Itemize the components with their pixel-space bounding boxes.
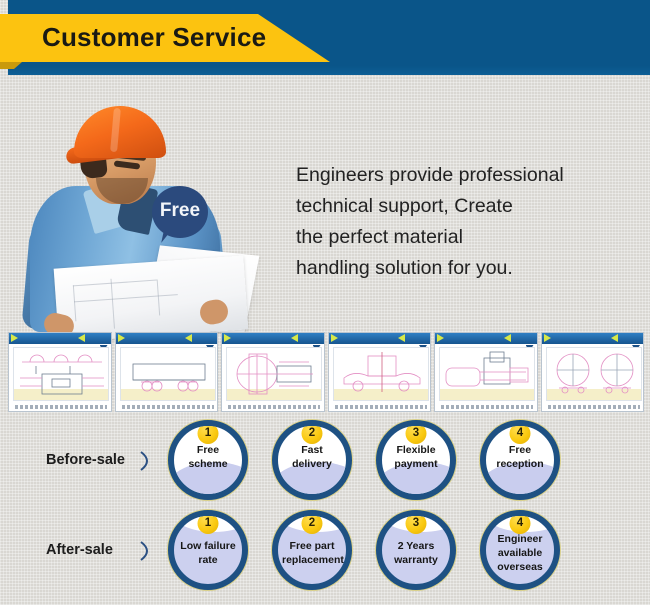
- label-line: overseas: [490, 560, 550, 574]
- step-number-badge: 4: [510, 423, 531, 444]
- thumbnail-item[interactable]: [541, 332, 645, 412]
- after-sale-item-1-label: Low failure rate: [178, 539, 238, 567]
- chevron-right-icon: [398, 334, 405, 342]
- thumbnail-title-bar: [329, 333, 432, 344]
- thumbnail-title-bar: [9, 333, 112, 344]
- label-line: warranty: [386, 553, 446, 567]
- thumbnail-caption: [228, 405, 320, 409]
- step-number-badge: 4: [510, 513, 531, 534]
- page-title: Customer Service: [42, 22, 266, 53]
- engineer-photo: [4, 82, 282, 326]
- before-sale-row: Before-sale 1 Free scheme 2 Fast deliver…: [0, 416, 650, 506]
- thumbnail-drawing: [546, 347, 642, 401]
- hero-line-1: Engineers provide professional: [296, 160, 636, 191]
- chevron-right-icon: [611, 334, 618, 342]
- before-sale-item-3[interactable]: 3 Flexible payment: [376, 420, 456, 500]
- chevron-left-icon: [544, 334, 551, 342]
- blueprint-line: [157, 279, 161, 315]
- thumbnail-caption: [15, 405, 107, 409]
- before-sale-item-3-label: Flexible payment: [386, 443, 446, 471]
- thumbnail-item[interactable]: [221, 332, 325, 412]
- before-sale-label: Before-sale: [46, 452, 125, 468]
- step-number-badge: 1: [198, 423, 219, 444]
- thumbnail-title-bar: [222, 333, 325, 344]
- thumbnail-title-bar: [542, 333, 645, 344]
- cad-linework: [334, 348, 429, 401]
- thumbnail-drawing: [333, 347, 429, 401]
- label-line: Free: [490, 443, 550, 457]
- drawing-thumbnail-strip: [8, 332, 644, 412]
- blueprint-line: [73, 280, 157, 287]
- after-sale-item-3[interactable]: 3 2 Years warranty: [376, 510, 456, 590]
- before-sale-item-2-label: Fast delivery: [282, 443, 342, 471]
- chevron-right-icon: [138, 540, 156, 562]
- chevron-right-icon: [78, 334, 85, 342]
- chevron-right-icon: [138, 450, 156, 472]
- cad-linework: [14, 348, 109, 401]
- blueprint-fold: [110, 279, 114, 329]
- thumbnail-caption: [548, 405, 640, 409]
- thumbnail-caption: [122, 405, 214, 409]
- thumbnail-item[interactable]: [434, 332, 538, 412]
- step-number-badge: 2: [302, 513, 323, 534]
- step-number-badge: 2: [302, 423, 323, 444]
- after-sale-item-2[interactable]: 2 Free part replacement: [272, 510, 352, 590]
- before-sale-item-2[interactable]: 2 Fast delivery: [272, 420, 352, 500]
- chevron-left-icon: [11, 334, 18, 342]
- after-sale-item-4[interactable]: 4 Engineer available overseas: [480, 510, 560, 590]
- step-number-badge: 3: [406, 513, 427, 534]
- cad-linework: [440, 348, 535, 401]
- label-line: 2 Years: [386, 539, 446, 553]
- cad-linework: [121, 348, 216, 401]
- label-line: payment: [386, 457, 446, 471]
- chevron-right-icon: [291, 334, 298, 342]
- blueprint-line: [73, 285, 77, 321]
- after-sale-item-2-label: Free part replacement: [282, 539, 342, 567]
- chevron-left-icon: [331, 334, 338, 342]
- after-sale-item-3-label: 2 Years warranty: [386, 539, 446, 567]
- hero-line-2: technical support, Create: [296, 191, 636, 222]
- before-sale-item-4[interactable]: 4 Free reception: [480, 420, 560, 500]
- label-line: replacement: [282, 553, 342, 567]
- chevron-right-icon: [185, 334, 192, 342]
- before-sale-item-4-label: Free reception: [490, 443, 550, 471]
- after-sale-label: After-sale: [46, 542, 113, 558]
- chevron-left-icon: [118, 334, 125, 342]
- label-line: Flexible: [386, 443, 446, 457]
- after-sale-item-1[interactable]: 1 Low failure rate: [168, 510, 248, 590]
- label-line: Free part: [282, 539, 342, 553]
- chevron-left-icon: [224, 334, 231, 342]
- thumbnail-item[interactable]: [328, 332, 432, 412]
- step-number-badge: 1: [198, 513, 219, 534]
- page-root: Customer Service: [0, 0, 650, 605]
- cad-linework: [547, 348, 642, 401]
- thumbnail-drawing: [120, 347, 216, 401]
- blueprint-line: [74, 294, 178, 302]
- thumbnail-title-bar: [116, 333, 219, 344]
- after-sale-row: After-sale 1 Low failure rate 2 Free par…: [0, 506, 650, 596]
- thumbnail-caption: [441, 405, 533, 409]
- label-line: Low failure: [178, 539, 238, 553]
- hero-copy: Engineers provide professional technical…: [296, 160, 636, 284]
- step-number-badge: 3: [406, 423, 427, 444]
- hero-section: Free Engineers provide professional tech…: [0, 78, 650, 328]
- thumbnail-item[interactable]: [8, 332, 112, 412]
- chevron-left-icon: [437, 334, 444, 342]
- cad-linework: [227, 348, 322, 401]
- hero-line-3: the perfect material: [296, 222, 636, 253]
- thumbnail-caption: [335, 405, 427, 409]
- chevron-right-icon: [504, 334, 511, 342]
- thumbnail-drawing: [13, 347, 109, 401]
- before-sale-item-1[interactable]: 1 Free scheme: [168, 420, 248, 500]
- speech-bubble-label: Free: [152, 200, 208, 222]
- before-sale-item-1-label: Free scheme: [178, 443, 238, 471]
- thumbnail-title-bar: [435, 333, 538, 344]
- after-sale-item-4-label: Engineer available overseas: [490, 532, 550, 574]
- thumbnail-drawing: [439, 347, 535, 401]
- label-line: reception: [490, 457, 550, 471]
- hero-line-4: handling solution for you.: [296, 253, 636, 284]
- page-header: Customer Service: [0, 0, 650, 78]
- thumbnail-item[interactable]: [115, 332, 219, 412]
- label-line: available: [490, 546, 550, 560]
- label-line: rate: [178, 553, 238, 567]
- thumbnail-drawing: [226, 347, 322, 401]
